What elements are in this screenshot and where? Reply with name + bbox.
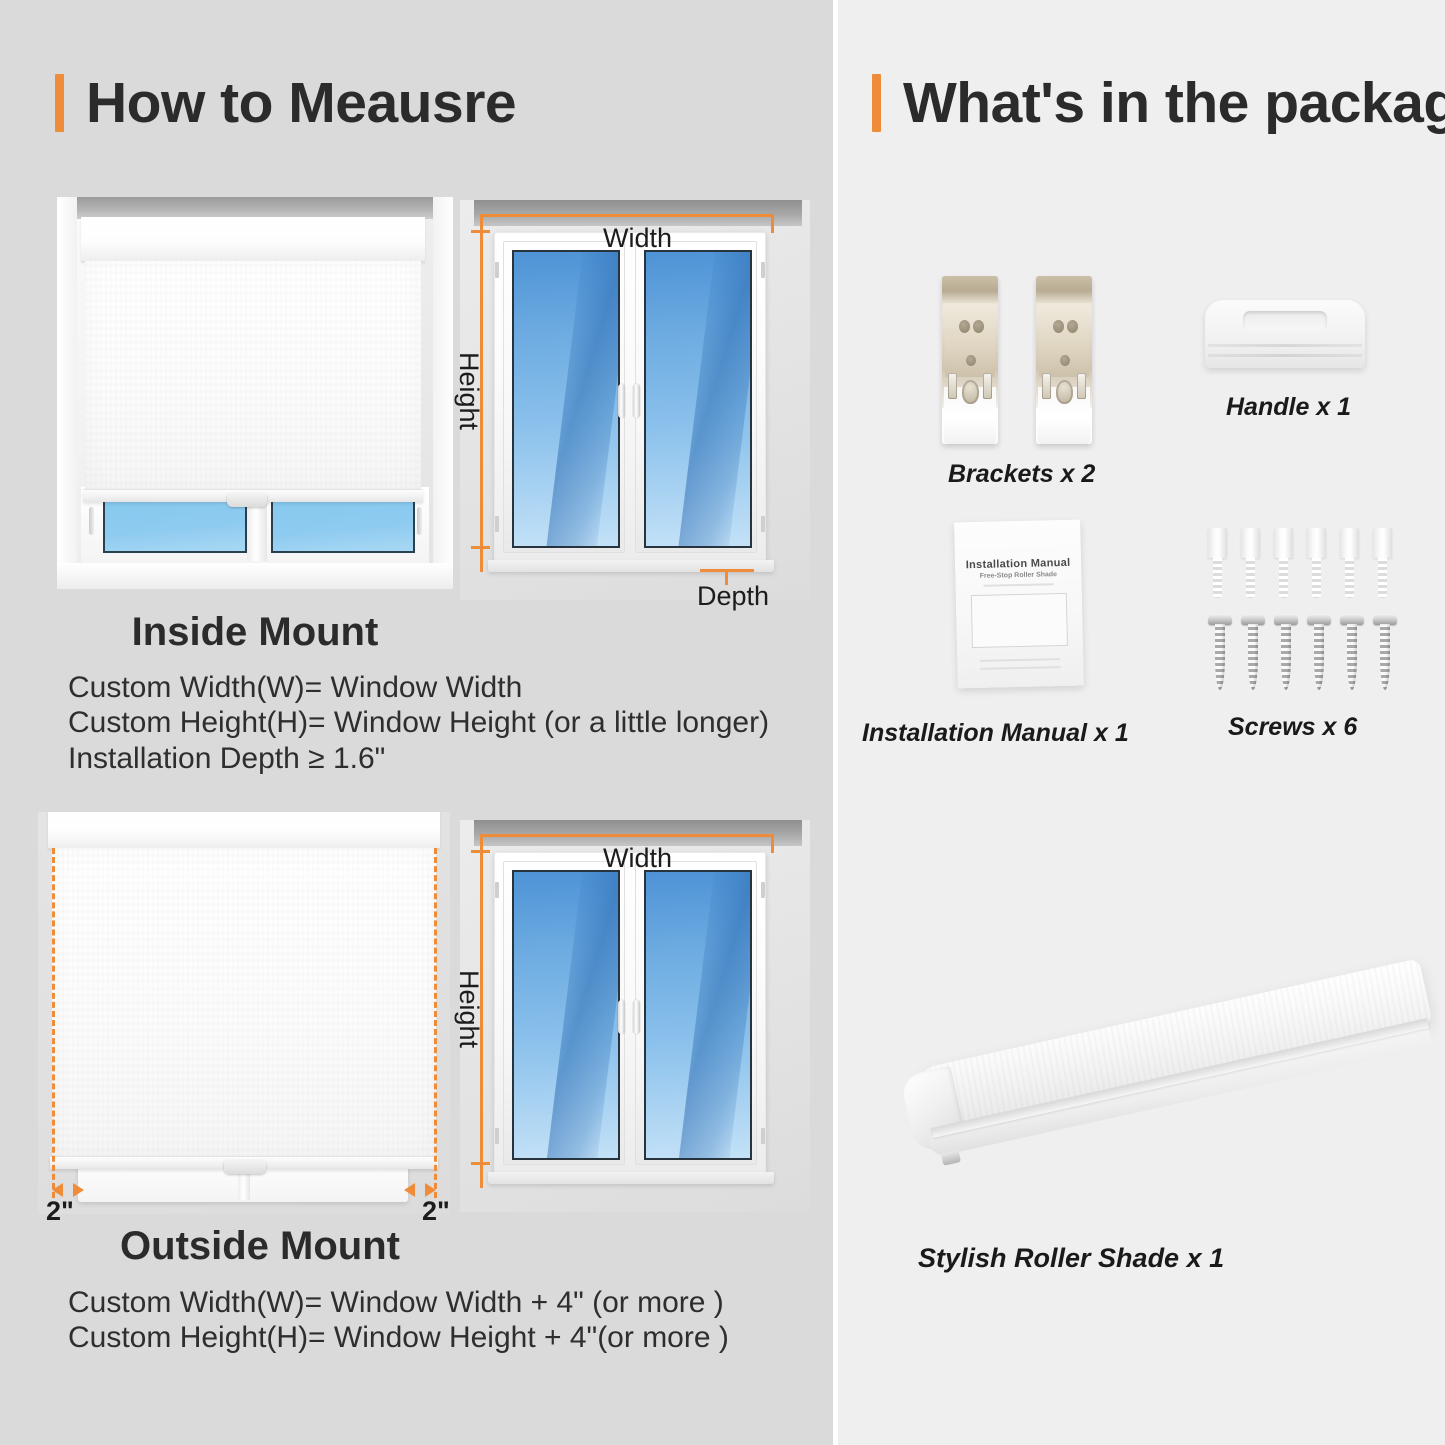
- window-sash-left-2: [503, 861, 625, 1165]
- bracket-keyhole-2: [1056, 380, 1073, 404]
- outside-mount-title: Outside Mount: [65, 1226, 455, 1266]
- window-sash-right: [635, 241, 757, 553]
- screws-label: Screws x 6: [1228, 715, 1357, 740]
- manual-label: Installation Manual x 1: [862, 721, 1129, 746]
- bracket-slot-left: [948, 373, 957, 399]
- bracket-hole-3: [966, 355, 976, 366]
- arrow-right-icon: [73, 1183, 84, 1197]
- installation-manual-part: Installation Manual Free-Stop Roller Sha…: [954, 520, 1084, 689]
- window-handle-right-2: [633, 1000, 640, 1034]
- wall-anchors-group: [1208, 528, 1393, 568]
- bracket-top-flange: [942, 276, 998, 303]
- glass-pane-left: [103, 499, 247, 553]
- manual-rule-3: [980, 666, 1061, 670]
- overhang-label-right: 2": [422, 1198, 450, 1225]
- bracket-hole-1b: [1053, 320, 1064, 333]
- accent-bar-icon: [55, 74, 64, 132]
- inside-spec-3: Installation Depth ≥ 1.6": [68, 741, 769, 776]
- bracket-hole-3b: [1060, 355, 1070, 366]
- wall-anchor-1: [1208, 528, 1227, 558]
- sash-handle-left: [89, 507, 94, 535]
- page-title-left: How to Meausre: [86, 75, 516, 132]
- screw-shaft-5: [1347, 624, 1357, 690]
- arrow-left-icon: [52, 1183, 63, 1197]
- depth-label: Depth: [697, 583, 769, 610]
- screw-6: [1380, 614, 1390, 690]
- window-sash-left: [503, 241, 625, 553]
- recess-lintel: [57, 197, 453, 219]
- width-label: Width: [603, 225, 672, 252]
- window-hinge-top-left-2: [495, 882, 499, 898]
- outside-shade-pull-tab: [224, 1160, 266, 1174]
- screw-1: [1215, 614, 1225, 690]
- anchor-tip-5: [1345, 558, 1355, 598]
- how-to-measure-panel: How to Meausre: [0, 0, 833, 1445]
- handle-grip-slot: [1243, 311, 1326, 331]
- width-cap-right-2: [771, 834, 774, 853]
- handle-ridge-2: [1208, 354, 1362, 357]
- height-cap-bottom-2: [471, 1162, 490, 1165]
- infographic-page: How to Meausre: [0, 0, 1445, 1445]
- roller-shade-product: [868, 880, 1428, 1180]
- window-hinge-top-left: [495, 262, 499, 278]
- screw-shaft-3: [1281, 624, 1291, 690]
- screw-2: [1248, 614, 1258, 690]
- wall-anchor-3: [1274, 528, 1293, 558]
- window-glass-left: [512, 250, 620, 548]
- inside-mount-specs: Custom Width(W)= Window Width Custom Hei…: [68, 670, 769, 776]
- bracket-body-2: [1039, 306, 1088, 377]
- bracket-slot-right-2: [1077, 373, 1086, 399]
- handle-part: [1205, 300, 1365, 368]
- outside-mount-specs: Custom Width(W)= Window Width + 4" (or m…: [68, 1285, 729, 1356]
- wall-anchor-5: [1340, 528, 1359, 558]
- manual-cover-subtitle: Free-Stop Roller Shade: [968, 571, 1069, 580]
- recess-right-jamb: [433, 197, 453, 589]
- wall-anchor-6: [1373, 528, 1392, 558]
- outside-spec-1: Custom Width(W)= Window Width + 4" (or m…: [68, 1285, 729, 1320]
- screw-shaft-2: [1248, 624, 1258, 690]
- window-hinge-top-right: [761, 262, 765, 278]
- bracket-part-2: [1036, 276, 1092, 444]
- window-hinge-bottom-left-2: [495, 1128, 499, 1144]
- screw-shaft-6: [1380, 624, 1390, 690]
- outside-spec-2: Custom Height(H)= Window Height + 4"(or …: [68, 1320, 729, 1355]
- window-hinge-bottom-left: [495, 516, 499, 532]
- window-frame-2: [494, 852, 766, 1174]
- screws-group: [1215, 614, 1400, 694]
- inside-mount-window-diagram: Width Height Depth: [460, 200, 810, 600]
- page-title-right: What's in the package: [903, 75, 1445, 132]
- accent-bar-icon-2: [872, 74, 881, 132]
- bracket-slot-right: [983, 373, 992, 399]
- manual-rule-1: [983, 583, 1054, 587]
- window-glass-left-2: [512, 870, 620, 1160]
- inside-spec-1: Custom Width(W)= Window Width: [68, 670, 769, 705]
- height-cap-bottom: [471, 546, 490, 549]
- screw-shaft-4: [1314, 624, 1324, 690]
- manual-rule-2: [980, 658, 1061, 662]
- inside-mount-illustration: [57, 197, 453, 589]
- window-glass-right: [644, 250, 752, 548]
- bracket-body: [945, 306, 994, 377]
- anchor-tip-1: [1213, 558, 1223, 598]
- recess-sill: [57, 563, 453, 589]
- outside-mount-window-diagram: Width Height: [460, 820, 810, 1212]
- overhang-label-left: 2": [46, 1198, 74, 1225]
- width-cap-right: [771, 214, 774, 233]
- window-frame: [494, 232, 766, 562]
- screw-4: [1314, 614, 1324, 690]
- shade-pull-tab: [227, 493, 267, 507]
- manual-cover-diagram-box: [971, 593, 1068, 649]
- bracket-hole-1: [959, 320, 970, 333]
- window-sill-2: [488, 1172, 774, 1184]
- window-hinge-bottom-right: [761, 516, 765, 532]
- window-glass-right-2: [644, 870, 752, 1160]
- bracket-top-flange-2: [1036, 276, 1092, 303]
- roller-shade-pin: [941, 1150, 961, 1166]
- anchor-tip-2: [1246, 558, 1256, 598]
- bracket-part-1: [942, 276, 998, 444]
- wall-anchor-2: [1241, 528, 1260, 558]
- wall-anchor-4: [1307, 528, 1326, 558]
- outside-mount-illustration: 2" 2": [38, 812, 450, 1214]
- shade-fabric: [85, 261, 421, 491]
- sash-handle-right: [417, 507, 422, 535]
- outside-shade-fabric: [52, 848, 436, 1158]
- outside-shade-headrail: [48, 812, 440, 849]
- inside-spec-2: Custom Height(H)= Window Height (or a li…: [68, 705, 769, 740]
- manual-cover-title: Installation Manual: [965, 558, 1071, 571]
- bracket-keyhole: [962, 380, 979, 404]
- inside-mount-title: Inside Mount: [65, 612, 445, 652]
- recess-left-jamb: [57, 197, 77, 589]
- brackets-label: Brackets x 2: [948, 462, 1095, 487]
- arrow-right-icon-2: [425, 1183, 436, 1197]
- window-hinge-top-right-2: [761, 882, 765, 898]
- width-measure-line-2: [480, 834, 774, 837]
- window-handle-left-2: [618, 1000, 625, 1034]
- anchor-tip-4: [1312, 558, 1322, 598]
- width-label-2: Width: [603, 845, 672, 872]
- height-cap-top-2: [471, 850, 490, 853]
- height-label-2: Height: [455, 970, 482, 1048]
- anchor-tip-3: [1279, 558, 1289, 598]
- window-handle-left: [618, 384, 625, 418]
- window-hinge-bottom-right-2: [761, 1128, 765, 1144]
- glass-pane-right: [271, 499, 415, 553]
- package-contents-panel: What's in the package Brackets x 2: [838, 0, 1445, 1445]
- screw-shaft-1: [1215, 624, 1225, 690]
- handle-label: Handle x 1: [1226, 395, 1351, 420]
- screw-5: [1347, 614, 1357, 690]
- bracket-slot-left-2: [1042, 373, 1051, 399]
- package-heading: What's in the package: [872, 74, 1445, 132]
- width-measure-line: [480, 214, 774, 217]
- overhang-guide-right: [434, 848, 437, 1198]
- height-cap-top: [471, 230, 490, 233]
- roller-shade-label: Stylish Roller Shade x 1: [918, 1245, 1224, 1272]
- overhang-guide-left: [52, 848, 55, 1198]
- window-handle-right: [633, 384, 640, 418]
- how-to-measure-heading: How to Meausre: [55, 74, 516, 132]
- arrow-left-icon-2: [404, 1183, 415, 1197]
- handle-ridge-1: [1208, 344, 1362, 347]
- screw-3: [1281, 614, 1291, 690]
- window-sash-right-2: [635, 861, 757, 1165]
- height-label: Height: [455, 352, 482, 430]
- anchor-tip-6: [1378, 558, 1388, 598]
- shade-headrail: [81, 217, 425, 262]
